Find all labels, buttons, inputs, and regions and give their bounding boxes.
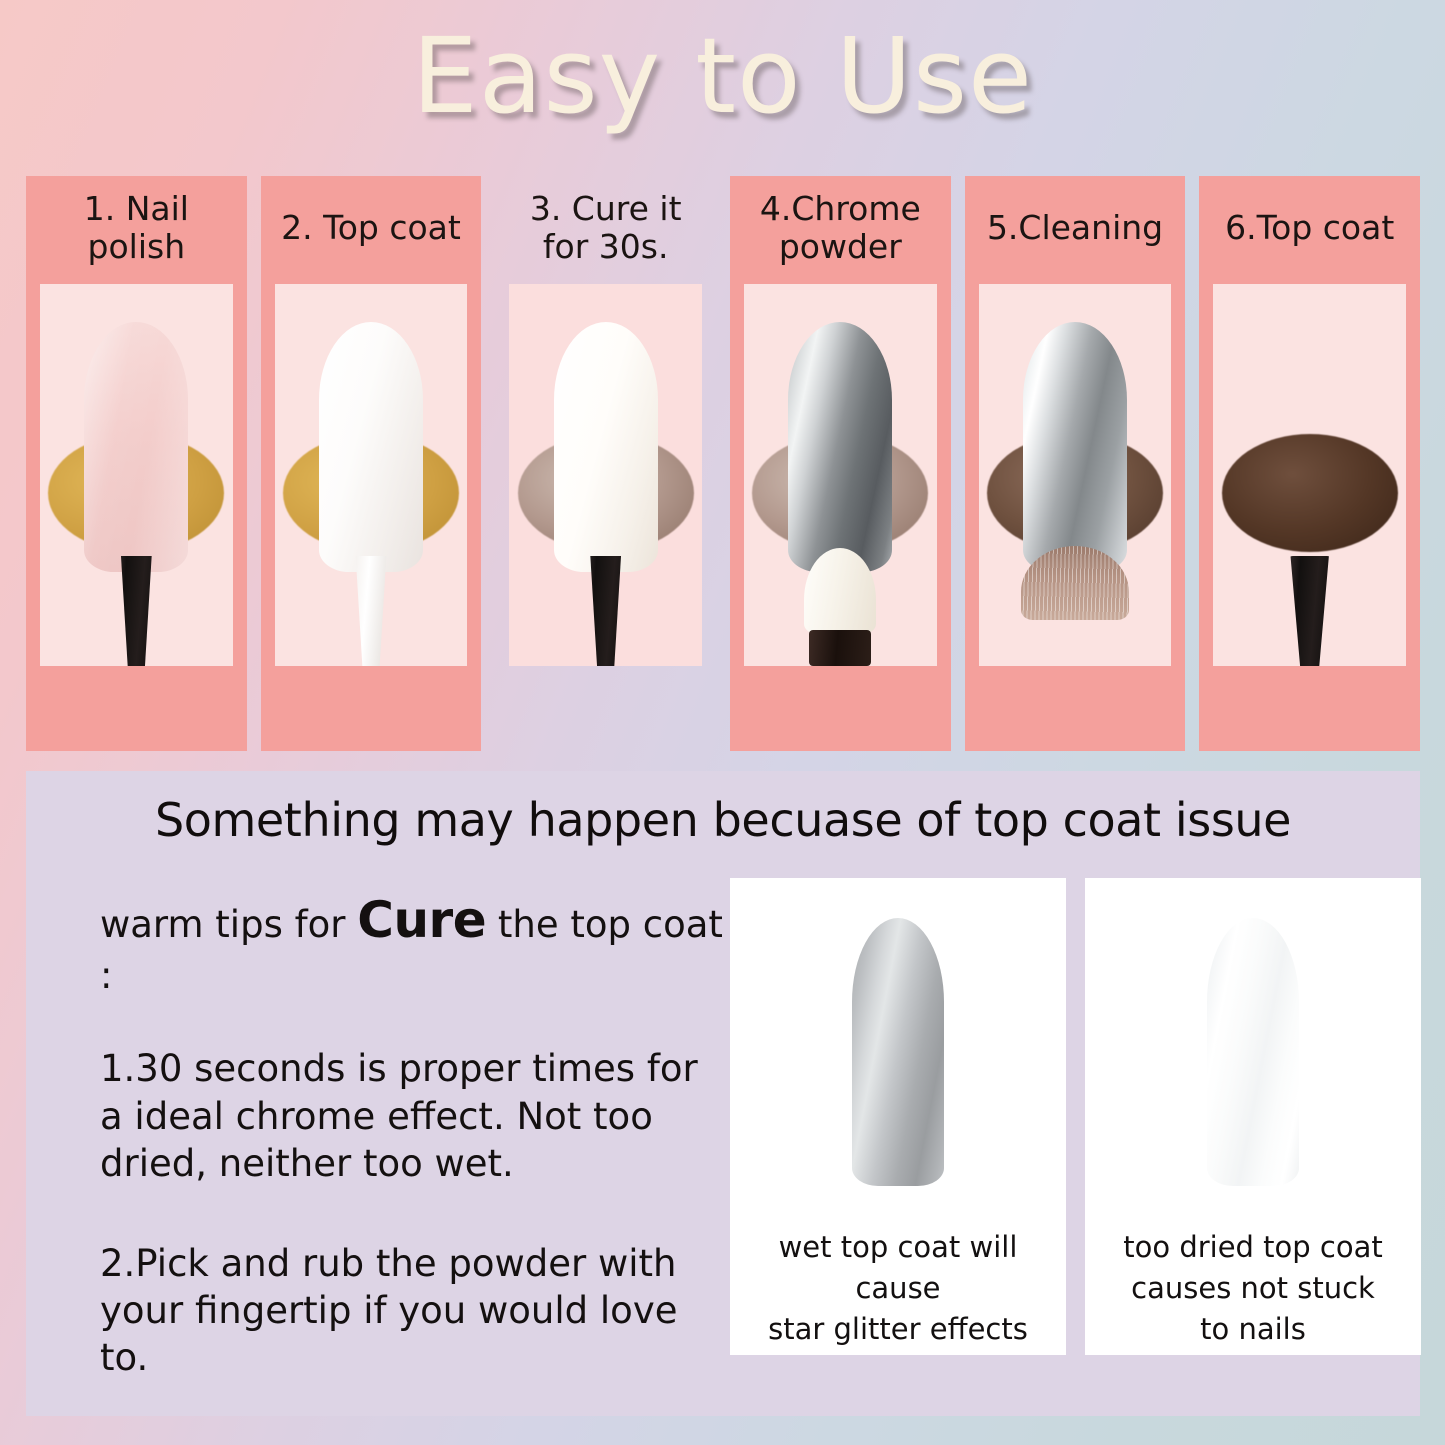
nail-tip-chrome-matte: [788, 322, 892, 572]
step-card-3: 3. Cure it for 30s.: [495, 176, 716, 751]
step-label-4: 4.Chrome powder: [730, 176, 951, 280]
step-card-6: 6.Top coat: [1199, 176, 1420, 751]
fan-brush-icon: [1015, 546, 1135, 666]
polish-brush-handle-icon: [1286, 556, 1334, 666]
step-photo-1: [40, 284, 233, 666]
example-card-dried-top-coat: too dried top coat causes not stuck to n…: [1085, 878, 1421, 1355]
step-label-3: 3. Cure it for 30s.: [495, 176, 716, 280]
step-card-2: 2. Top coat: [261, 176, 482, 751]
step-photo-4: [744, 284, 937, 666]
example-photo-wet: [730, 878, 1066, 1223]
step-photo-6: [1213, 284, 1406, 666]
topcoat-brush-handle-icon: [347, 556, 395, 666]
issue-panel: Something may happen becuase of top coat…: [26, 771, 1420, 1416]
issue-heading: Something may happen becuase of top coat…: [44, 795, 1402, 846]
nail-tip-pink: [84, 322, 188, 572]
step-label-1: 1. Nail polish: [26, 176, 247, 280]
polish-brush-handle-icon: [112, 556, 160, 666]
step-card-5: 5.Cleaning: [965, 176, 1186, 751]
polish-brush-handle-icon: [582, 556, 630, 666]
page-title: Easy to Use: [0, 22, 1445, 131]
tips-column: warm tips for Cure the top coat : 1.30 s…: [100, 889, 725, 1382]
step-photo-5: [979, 284, 1172, 666]
nail-sample-grey-chrome: [852, 918, 944, 1186]
steps-strip: 1. Nail polish 2. Top coat 3. Cure it fo…: [26, 176, 1420, 751]
tip-item-2: 2.Pick and rub the powder with your fing…: [100, 1240, 725, 1382]
step-label-2: 2. Top coat: [261, 176, 482, 280]
nail-tip-white: [319, 322, 423, 572]
example-card-wet-top-coat: wet top coat will cause star glitter eff…: [730, 878, 1066, 1355]
step-photo-3: [509, 284, 702, 666]
nail-tip-cured: [554, 322, 658, 572]
sponge-applicator-icon: [801, 548, 879, 666]
nail-sample-white-gloss: [1207, 918, 1299, 1186]
example-caption-dried: too dried top coat causes not stuck to n…: [1085, 1223, 1421, 1355]
example-caption-wet: wet top coat will cause star glitter eff…: [730, 1223, 1066, 1355]
nail-tip-chrome-bright: [1023, 322, 1127, 572]
step-card-4: 4.Chrome powder: [730, 176, 951, 751]
step-photo-2: [275, 284, 468, 666]
step-card-1: 1. Nail polish: [26, 176, 247, 751]
example-photo-dried: [1085, 878, 1421, 1223]
step-label-6: 6.Top coat: [1199, 176, 1420, 280]
tips-lead-keyword: Cure: [357, 891, 486, 949]
tips-lead-before: warm tips for: [100, 903, 357, 946]
tip-item-1: 1.30 seconds is proper times for a ideal…: [100, 1045, 725, 1187]
step-label-5: 5.Cleaning: [965, 176, 1186, 280]
tips-lead: warm tips for Cure the top coat :: [100, 889, 725, 999]
nail-tip-chrome-sealed: [1258, 322, 1362, 572]
